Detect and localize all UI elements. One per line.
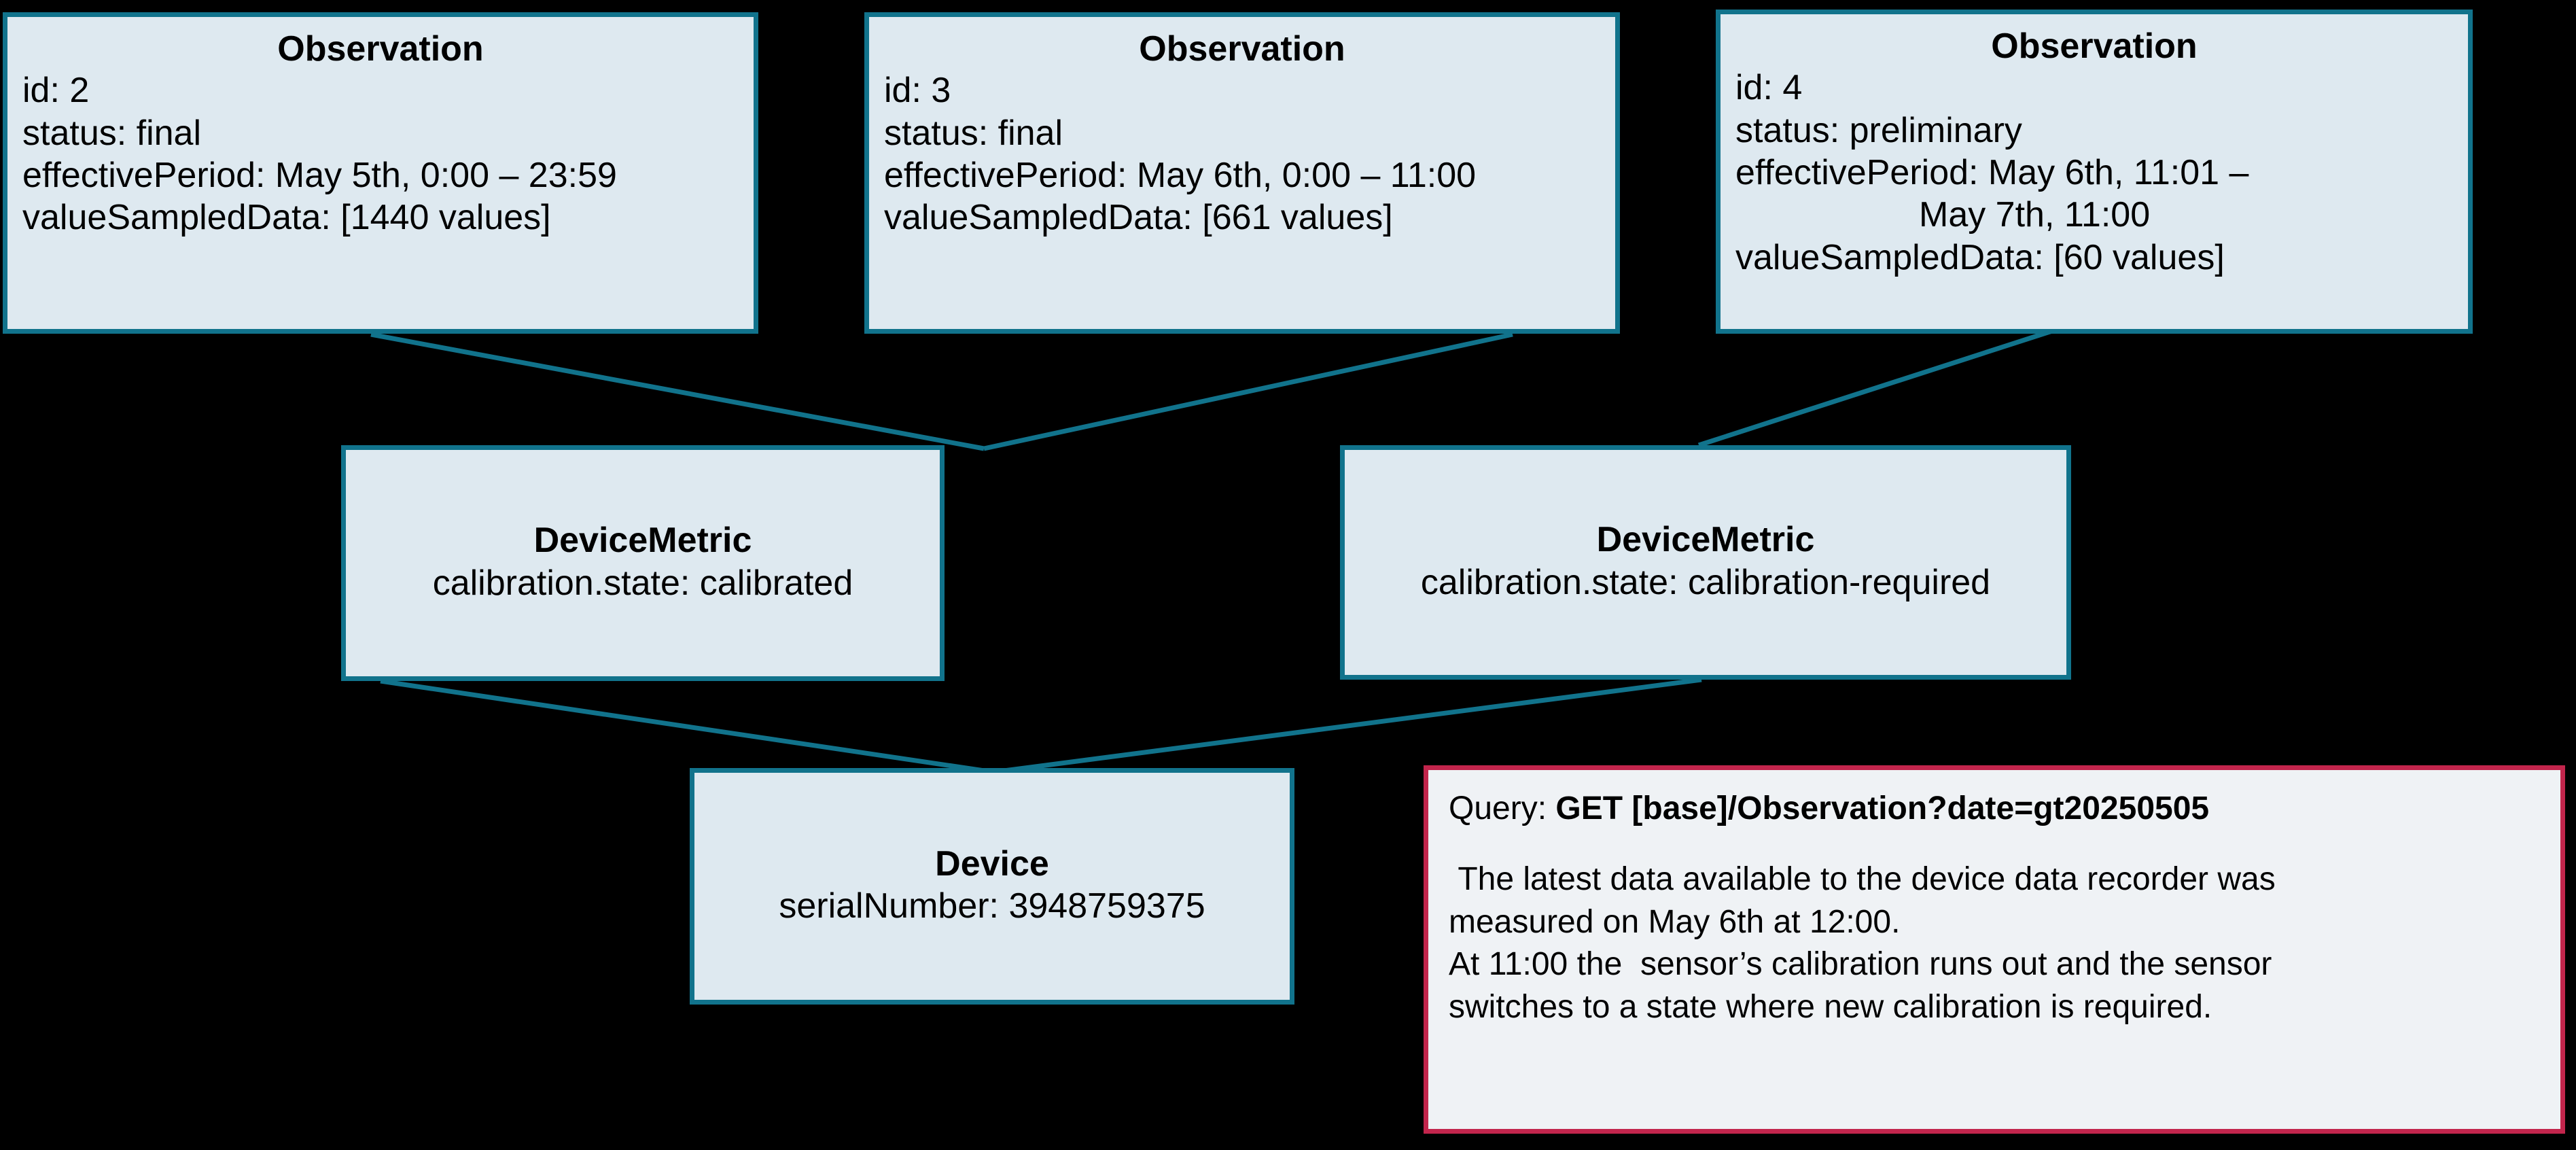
observation-card-3[interactable]: Observation id: 3 status: final effectiv… (864, 12, 1620, 334)
observation-effective-period: effectivePeriod: May 6th, 0:00 – 11:00 (884, 154, 1600, 196)
observation-id: id: 2 (22, 69, 739, 111)
connector-obs4-to-devicemetric2 (1699, 331, 2052, 445)
connector-obs2-to-devicemetric1 (371, 334, 984, 449)
observation-id: id: 3 (884, 69, 1600, 111)
query-note-line-3: At 11:00 the sensor’s calibration runs o… (1449, 943, 2540, 986)
device-title: Device (935, 844, 1049, 884)
devicemetric-card-calibrated[interactable]: DeviceMetric calibration.state: calibrat… (341, 445, 945, 681)
observation-value-sampled-data: valueSampledData: [1440 values] (22, 196, 739, 239)
observation-card-2[interactable]: Observation id: 2 status: final effectiv… (3, 12, 758, 334)
observation-value-sampled-data: valueSampledData: [661 values] (884, 196, 1600, 239)
observation-effective-period: effectivePeriod: May 5th, 0:00 – 23:59 (22, 154, 739, 196)
devicemetric-calibration-state: calibration.state: calibration-required (1421, 561, 1990, 605)
query-url: GET [base]/Observation?date=gt20250505 (1555, 790, 2209, 826)
observation-title: Observation (22, 29, 739, 69)
query-note-line-1: The latest data available to the device … (1449, 858, 2540, 901)
diagram-canvas: Observation id: 2 status: final effectiv… (0, 0, 2576, 1150)
devicemetric-calibration-state: calibration.state: calibrated (433, 561, 853, 606)
observation-value-sampled-data: valueSampledData: [60 values] (1735, 237, 2453, 279)
observation-effective-period: effectivePeriod: May 6th, 11:01 – (1735, 152, 2453, 194)
query-line: Query: GET [base]/Observation?date=gt202… (1449, 788, 2540, 830)
connector-devicemetric2-to-device (993, 680, 1701, 772)
devicemetric-card-calibration-required[interactable]: DeviceMetric calibration.state: calibrat… (1340, 445, 2071, 680)
devicemetric-title: DeviceMetric (534, 521, 752, 561)
connector-devicemetric1-to-device (381, 681, 993, 772)
observation-status: status: preliminary (1735, 109, 2453, 152)
observation-status: status: final (884, 112, 1600, 154)
query-note-line-4: switches to a state where new calibratio… (1449, 986, 2540, 1028)
connector-obs3-to-devicemetric1 (984, 334, 1513, 449)
observation-title: Observation (884, 29, 1600, 69)
device-card[interactable]: Device serialNumber: 3948759375 (690, 768, 1294, 1005)
observation-card-4[interactable]: Observation id: 4 status: preliminary ef… (1716, 10, 2473, 334)
observation-title: Observation (1735, 27, 2453, 67)
query-note-line-2: measured on May 6th at 12:00. (1449, 901, 2540, 943)
observation-id: id: 4 (1735, 67, 2453, 109)
observation-status: status: final (22, 112, 739, 154)
device-serial-number: serialNumber: 3948759375 (779, 884, 1205, 928)
devicemetric-title: DeviceMetric (1597, 520, 1815, 560)
observation-effective-period-cont: May 7th, 11:00 (1735, 194, 2453, 236)
callout-spacer (1449, 830, 2540, 858)
query-label: Query: (1449, 790, 1555, 826)
query-callout[interactable]: Query: GET [base]/Observation?date=gt202… (1424, 765, 2565, 1134)
